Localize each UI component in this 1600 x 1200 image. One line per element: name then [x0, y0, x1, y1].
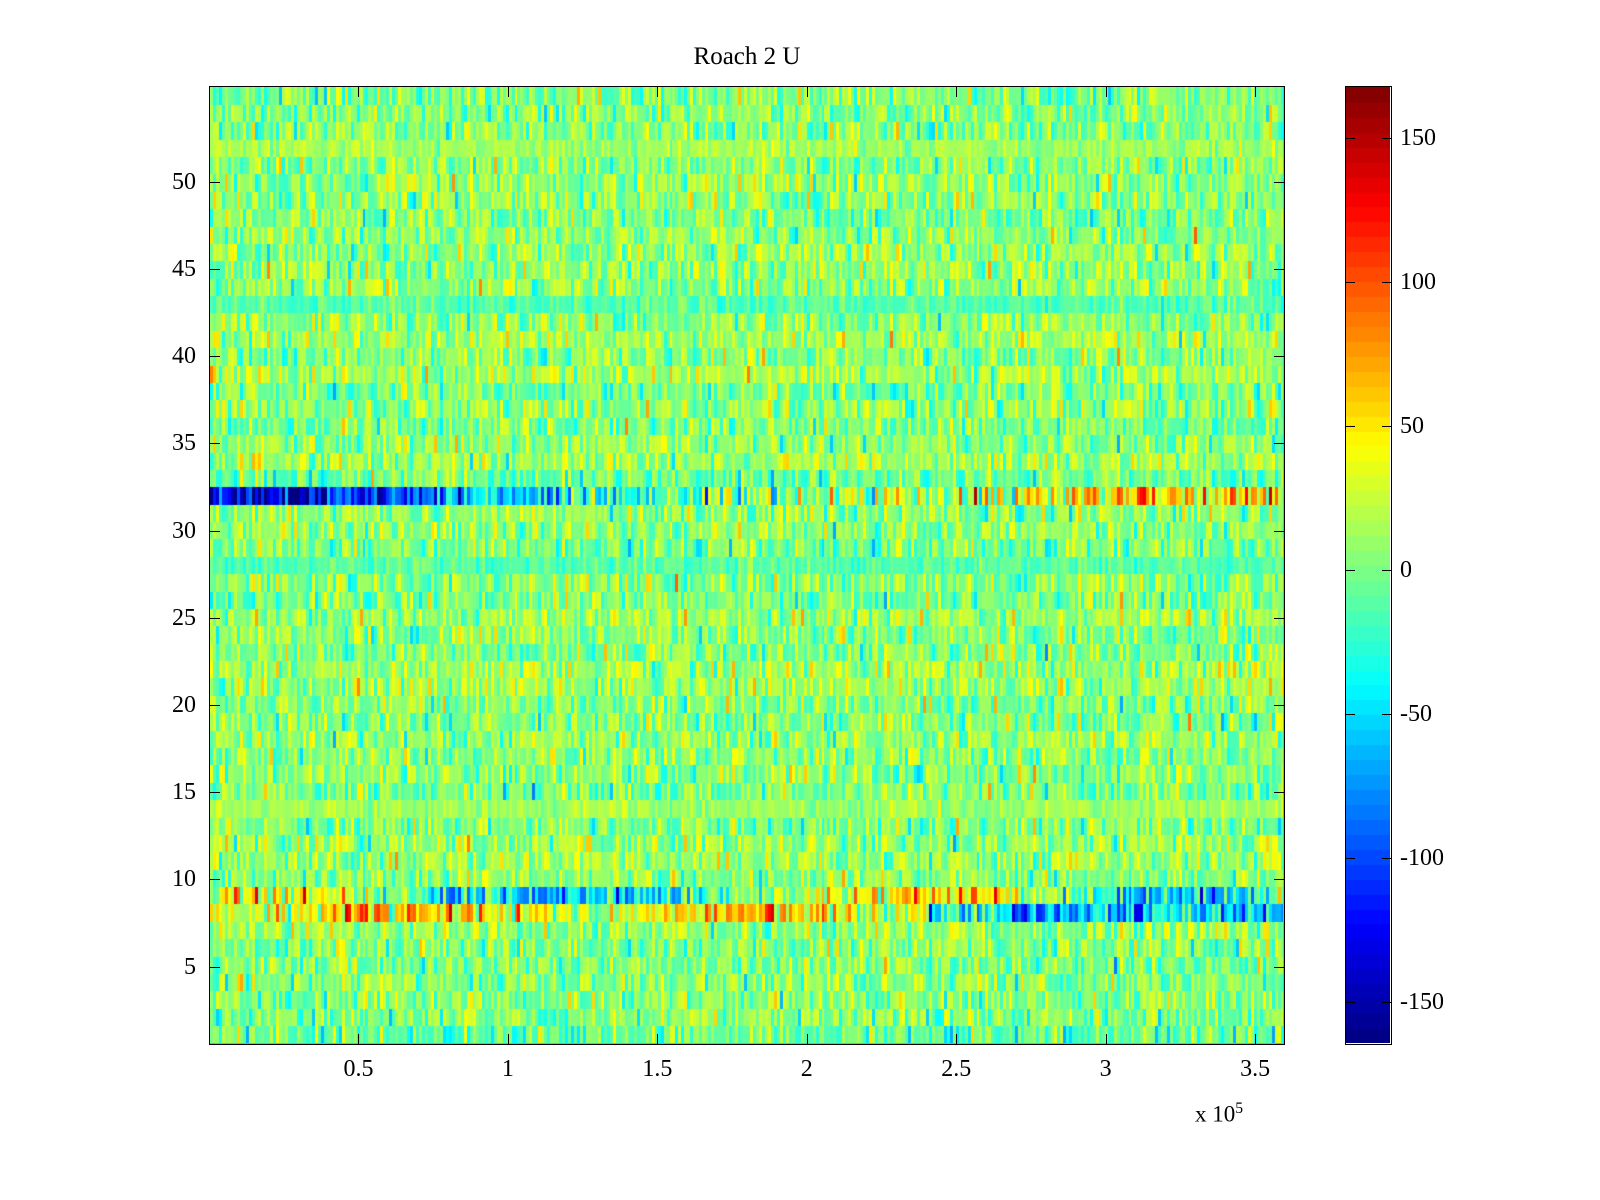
colorbar[interactable]: [1345, 86, 1392, 1045]
x-axis-tick-label: 2: [747, 1057, 867, 1081]
x-axis-tick-top: [1106, 86, 1107, 97]
colorbar-tick: [1345, 858, 1355, 859]
x-axis-tick-label: 2.5: [896, 1057, 1016, 1081]
y-axis-tick: [209, 356, 220, 357]
colorbar-tick-label: -150: [1400, 990, 1444, 1014]
y-axis-tick: [209, 443, 220, 444]
colorbar-tick: [1345, 570, 1355, 571]
y-axis-tick: [209, 269, 220, 270]
x-axis-tick: [807, 1034, 808, 1045]
x-axis-tick-label: 1: [448, 1057, 568, 1081]
y-axis-tick-label: 15: [86, 780, 196, 804]
colorbar-tick: [1345, 138, 1355, 139]
x-exponent-power: 5: [1235, 1100, 1243, 1117]
y-axis-tick-label: 40: [86, 344, 196, 368]
y-axis-tick-label: 5: [86, 955, 196, 979]
x-axis-tick-label: 1.5: [597, 1057, 717, 1081]
y-axis-tick-right: [1274, 356, 1285, 357]
y-axis-tick-right: [1274, 618, 1285, 619]
x-axis-tick-label: 3.5: [1195, 1057, 1315, 1081]
colorbar-tick-label: 0: [1400, 558, 1412, 582]
heatmap-axes[interactable]: [209, 86, 1285, 1045]
colorbar-tick-label: 50: [1400, 414, 1424, 438]
y-axis-tick-right: [1274, 269, 1285, 270]
y-axis-tick-label: 10: [86, 867, 196, 891]
colorbar-tick: [1345, 714, 1355, 715]
colorbar-tick-right: [1382, 570, 1392, 571]
y-axis-tick-right: [1274, 705, 1285, 706]
y-axis-tick-label: 45: [86, 257, 196, 281]
x-exponent-mantissa: x 10: [1195, 1102, 1235, 1127]
x-axis-tick-top: [508, 86, 509, 97]
colorbar-tick-label: 150: [1400, 126, 1436, 150]
heatmap-image: [210, 87, 1283, 1043]
colorbar-tick: [1345, 1002, 1355, 1003]
x-axis-tick: [1106, 1034, 1107, 1045]
x-axis-tick-top: [358, 86, 359, 97]
figure-canvas: Roach 2 U 51015202530354045500.511.522.5…: [0, 0, 1600, 1200]
x-axis-tick-top: [807, 86, 808, 97]
colorbar-tick-right: [1382, 858, 1392, 859]
colorbar-tick-right: [1382, 714, 1392, 715]
x-axis-tick-label: 3: [1046, 1057, 1166, 1081]
x-axis-tick-top: [956, 86, 957, 97]
colorbar-tick-right: [1382, 426, 1392, 427]
y-axis-tick-right: [1274, 792, 1285, 793]
x-axis-tick: [358, 1034, 359, 1045]
colorbar-tick: [1345, 282, 1355, 283]
x-axis-tick-top: [1255, 86, 1256, 97]
x-axis-tick-top: [657, 86, 658, 97]
y-axis-tick-label: 35: [86, 431, 196, 455]
colorbar-tick-label: -100: [1400, 846, 1444, 870]
colorbar-tick-right: [1382, 1002, 1392, 1003]
y-axis-tick: [209, 531, 220, 532]
y-axis-tick-right: [1274, 531, 1285, 532]
y-axis-tick: [209, 182, 220, 183]
y-axis-tick-right: [1274, 967, 1285, 968]
colorbar-tick-label: -50: [1400, 702, 1432, 726]
colorbar-tick-right: [1382, 138, 1392, 139]
colorbar-gradient: [1346, 87, 1390, 1043]
x-axis-tick: [508, 1034, 509, 1045]
y-axis-tick-label: 50: [86, 170, 196, 194]
x-axis-tick-label: 0.5: [298, 1057, 418, 1081]
colorbar-tick: [1345, 426, 1355, 427]
y-axis-tick-right: [1274, 182, 1285, 183]
y-axis-tick: [209, 967, 220, 968]
y-axis-tick-label: 20: [86, 693, 196, 717]
colorbar-tick-label: 100: [1400, 270, 1436, 294]
x-axis-tick: [1255, 1034, 1256, 1045]
x-axis-tick: [956, 1034, 957, 1045]
colorbar-tick-right: [1382, 282, 1392, 283]
x-axis-tick: [657, 1034, 658, 1045]
y-axis-tick-right: [1274, 443, 1285, 444]
y-axis-tick-label: 25: [86, 606, 196, 630]
page-title: Roach 2 U: [209, 44, 1285, 69]
y-axis-tick: [209, 705, 220, 706]
x-axis-exponent-label: x 105: [1195, 1101, 1243, 1126]
y-axis-tick: [209, 792, 220, 793]
y-axis-tick-right: [1274, 879, 1285, 880]
y-axis-tick-label: 30: [86, 519, 196, 543]
y-axis-tick: [209, 618, 220, 619]
y-axis-tick: [209, 879, 220, 880]
